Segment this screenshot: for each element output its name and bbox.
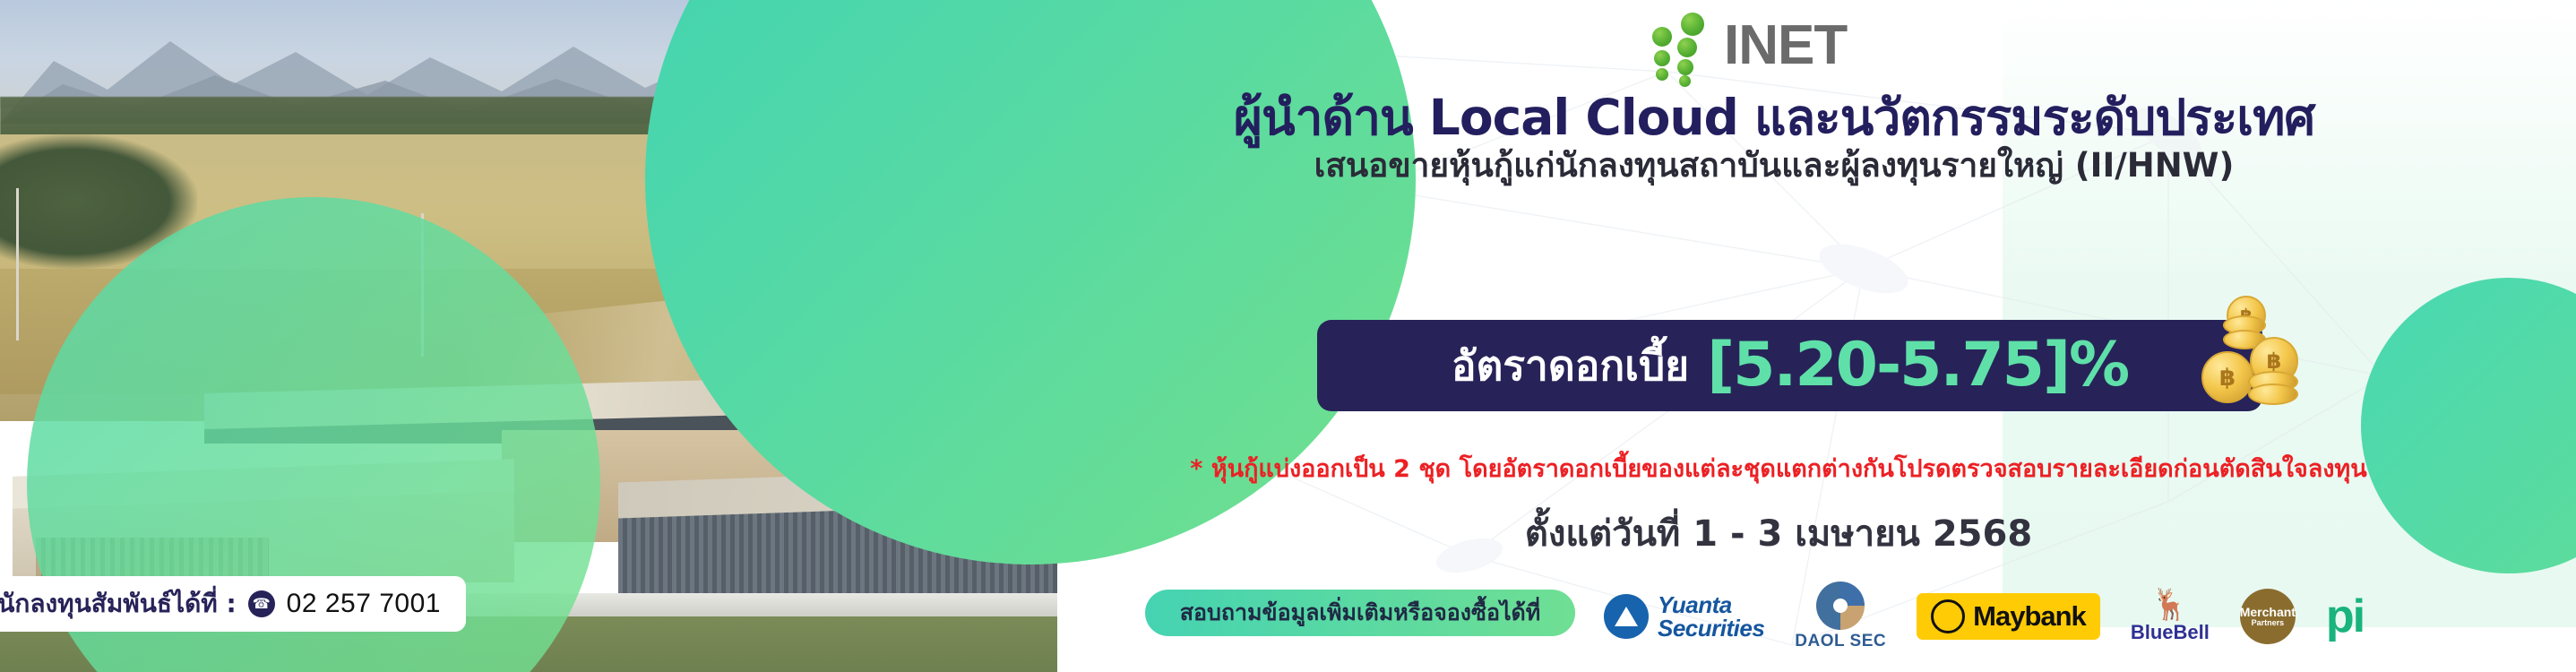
phone-icon: ☎ (248, 590, 275, 617)
broker-logo-row: Yuanta Securities DAOL SEC Maybank 🦌 Blu… (1604, 573, 2563, 659)
interest-rate-value: [5.20-5.75]% (1707, 335, 2128, 396)
bluebell-deer-icon: 🦌 (2151, 590, 2189, 620)
investor-relations-contact-card: ติดต่อฝ่ายนักลงทุนสัมพันธ์ได้ที่ : ☎ 02 … (0, 576, 466, 632)
offer-period-text: ตั้งแต่วันที่ 1 - 3 เมษายน 2568 (1004, 504, 2554, 562)
promo-banner: INET ผู้นำด้าน Local Cloud และนวัตกรรมระ… (0, 0, 2576, 672)
maybank-tiger-icon (1931, 599, 1965, 633)
maybank-label: Maybank (1973, 600, 2086, 633)
merchant-circle-icon: Merchant Partners (2240, 589, 2296, 644)
page-subtitle: เสนอขายหุ้นกู้แก่นักลงทุนสถาบันและผู้ลงท… (1004, 139, 2545, 192)
yuanta-line2: Securities (1658, 616, 1764, 640)
pi-label: pi (2326, 593, 2364, 640)
photo-pole (16, 188, 19, 340)
gold-coins-icon: ฿ ฿ ฿ (2200, 296, 2307, 417)
interest-rate-box: อัตราดอกเบี้ย [5.20-5.75]% (1317, 320, 2262, 411)
contact-cta-button[interactable]: สอบถามข้อมูลเพิ่มเติมหรือจองซื้อได้ที่ (1145, 590, 1575, 636)
broker-logo-yuanta[interactable]: Yuanta Securities (1604, 593, 1764, 640)
green-dots-icon (1641, 11, 1727, 81)
daol-circle-icon (1816, 582, 1865, 630)
interest-rate-label: อัตราดอกเบี้ย (1452, 333, 1689, 399)
broker-logo-daol[interactable]: DAOL SEC (1795, 582, 1886, 651)
yuanta-star-icon (1604, 594, 1649, 639)
merchant-line1: Merchant (2240, 606, 2296, 619)
yuanta-line1: Yuanta (1658, 593, 1764, 616)
broker-logo-pi[interactable]: pi (2326, 593, 2364, 640)
bluebell-label: BlueBell (2131, 621, 2210, 644)
disclaimer-text: * หุ้นกู้แบ่งออกเป็น 2 ชุด โดยอัตราดอกเบ… (1004, 449, 2554, 487)
broker-logo-merchant-partners[interactable]: Merchant Partners (2240, 589, 2296, 644)
inet-logo[interactable]: INET (1641, 11, 1937, 81)
broker-logo-bluebell[interactable]: 🦌 BlueBell (2131, 590, 2210, 644)
inet-wordmark: INET (1724, 18, 1847, 73)
broker-logo-maybank[interactable]: Maybank (1917, 593, 2100, 640)
daol-label: DAOL SEC (1795, 632, 1886, 651)
contact-label: ติดต่อฝ่ายนักลงทุนสัมพันธ์ได้ที่ : (0, 584, 237, 624)
merchant-line2: Partners (2252, 619, 2285, 627)
contact-phone-number[interactable]: 02 257 7001 (287, 589, 441, 619)
